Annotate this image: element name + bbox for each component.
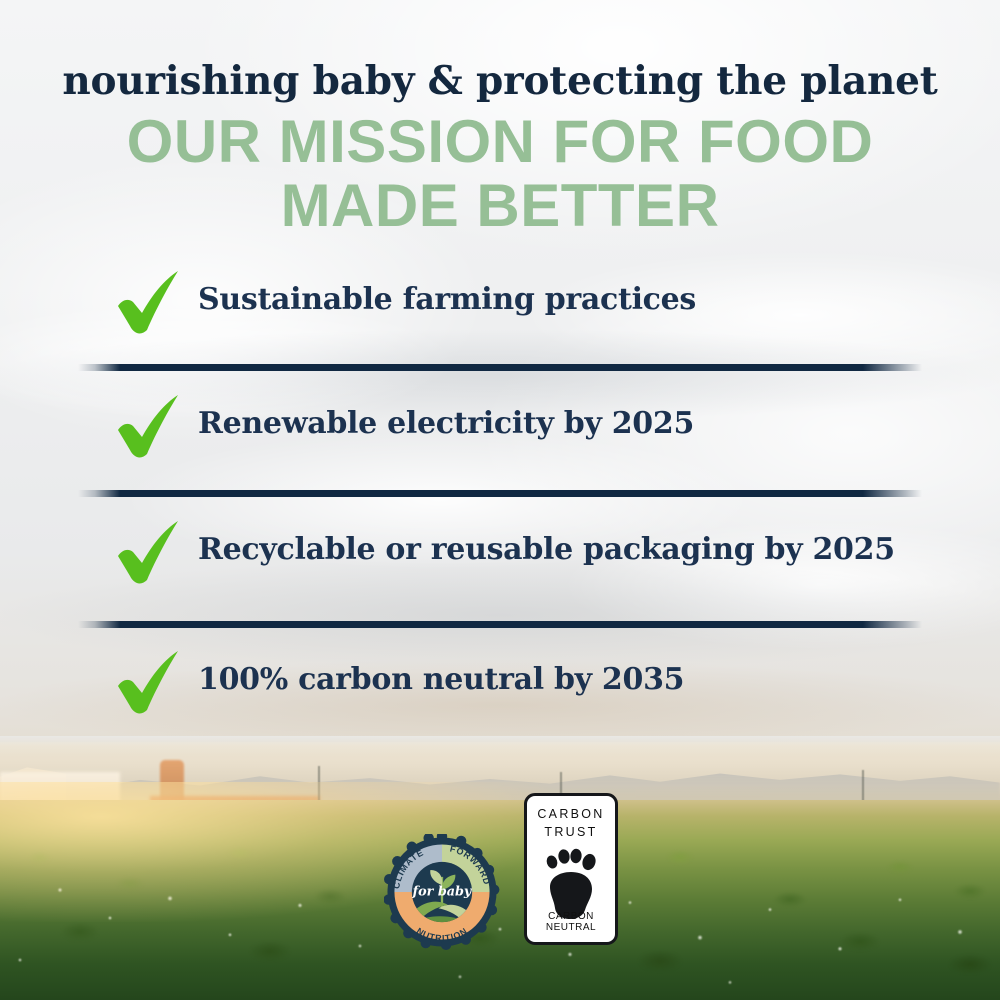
climate-forward-nutrition-seal-icon: CLIMATE FORWARD NUTRITION for baby <box>384 834 500 950</box>
certification-badges: CLIMATE FORWARD NUTRITION for baby CARBO… <box>0 0 1000 1000</box>
carbon-trust-footer: CARBON NEUTRAL <box>527 911 615 933</box>
mission-infographic: nourishing baby & protecting the planet … <box>0 0 1000 1000</box>
svg-text:for baby: for baby <box>412 884 473 899</box>
carbon-trust-badge: CARBON TRUST CARBON NEUTRAL <box>524 793 618 945</box>
carbon-trust-line-2: TRUST <box>544 825 597 839</box>
carbon-trust-line-1: CARBON <box>537 807 604 821</box>
carbon-trust-footprint-icon <box>540 845 602 919</box>
